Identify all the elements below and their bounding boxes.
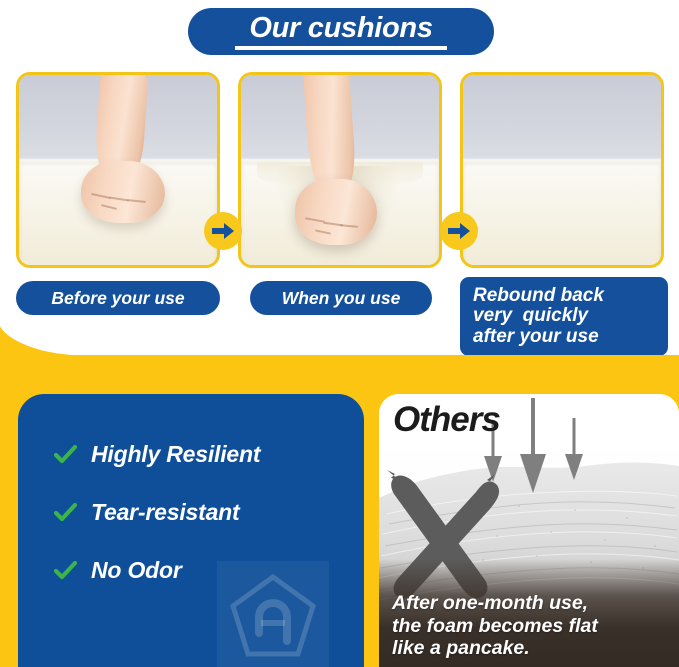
knuckle-creases (303, 217, 371, 239)
pentagon-house-logo-icon (227, 571, 319, 663)
page-title-banner: Our cushions (188, 8, 494, 55)
step-3-photo-panel (460, 72, 664, 268)
feature-label: Highly Resilient (91, 441, 260, 468)
others-caption-line-3: like a pancake. (392, 637, 671, 659)
others-caption: After one-month use, the foam becomes fl… (392, 592, 671, 659)
features-card: Highly Resilient Tear-resistant No Odor (18, 394, 364, 667)
step-2-photo-panel (238, 72, 442, 268)
page-title: Our cushions (249, 14, 432, 43)
step-3-caption-line-2: very quickly (473, 306, 588, 327)
others-caption-line-2: the foam becomes flat (392, 615, 671, 637)
step-connector-arrow-2 (440, 212, 478, 250)
photo-background-wall (463, 75, 661, 164)
arrow-right-icon (447, 222, 471, 240)
step-1-photo-panel (16, 72, 220, 268)
swoosh-shape (0, 326, 679, 372)
features-list: Highly Resilient Tear-resistant No Odor (54, 441, 260, 584)
foam-top-edge (463, 159, 661, 164)
arrow-right-icon (211, 222, 235, 240)
step-2-caption: When you use (250, 281, 432, 315)
demo-steps-photo-row (0, 72, 679, 268)
product-infographic: Our cushions (0, 0, 679, 667)
feature-item-highly-resilient: Highly Resilient (54, 441, 260, 468)
feature-label: Tear-resistant (91, 499, 239, 526)
check-icon (54, 445, 77, 465)
others-title: Others (393, 400, 500, 440)
step-3-caption-line-1: Rebound back (473, 286, 604, 307)
foam-block (463, 159, 661, 265)
step-1-caption: Before your use (16, 281, 220, 315)
feature-item-tear-resistant: Tear-resistant (54, 499, 260, 526)
check-icon (54, 503, 77, 523)
title-underline (235, 46, 447, 50)
feature-label: No Odor (91, 557, 182, 584)
check-icon (54, 561, 77, 581)
yellow-swoosh-divider (0, 326, 679, 372)
step-connector-arrow-1 (204, 212, 242, 250)
feature-item-no-odor: No Odor (54, 557, 260, 584)
others-comparison-card: Others (379, 394, 679, 667)
knuckle-creases (89, 193, 159, 215)
others-caption-line-1: After one-month use, (392, 592, 671, 614)
